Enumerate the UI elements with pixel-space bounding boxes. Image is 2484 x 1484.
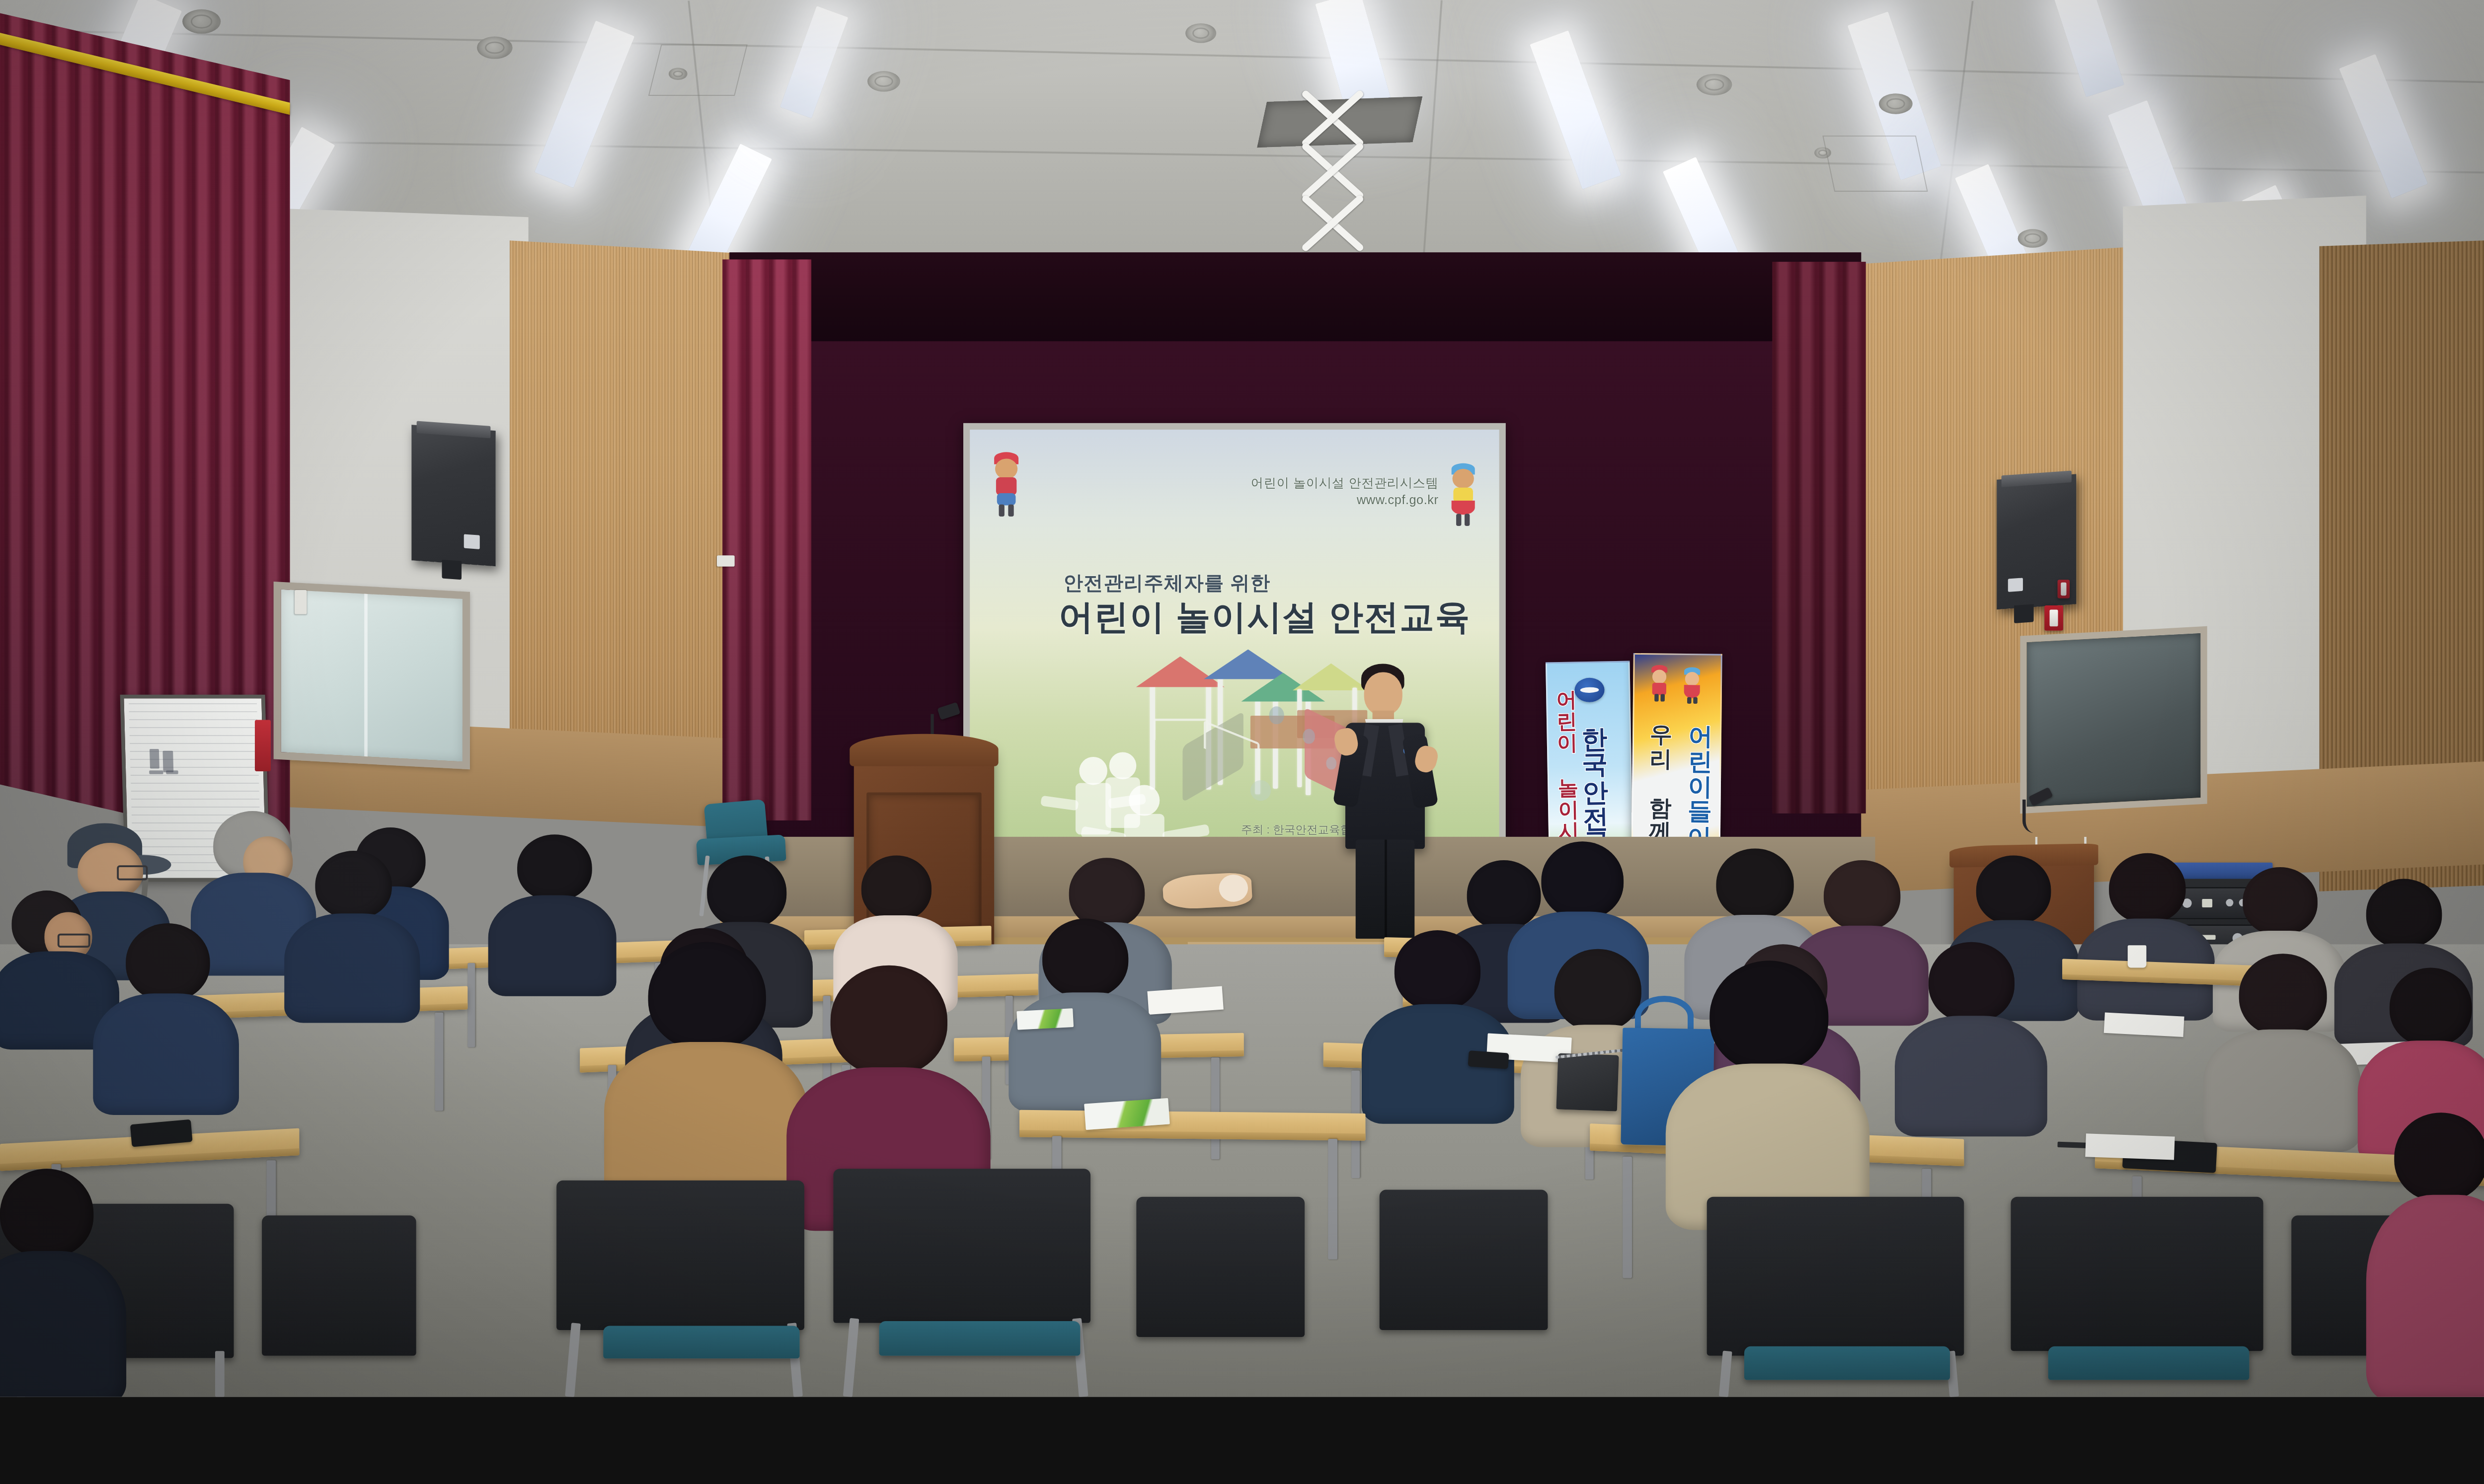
ceiling-diffuser	[2018, 229, 2048, 248]
chair-seat[interactable]	[1744, 1346, 1950, 1380]
handout-papers	[2085, 1133, 2174, 1160]
presenter-speaker	[1317, 664, 1452, 940]
chair[interactable]	[556, 1181, 804, 1330]
slide-child-front	[1110, 785, 1180, 842]
ceiling-diffuser	[1879, 93, 1913, 114]
audience-person	[1894, 942, 2048, 1134]
desk-row	[1019, 1110, 1366, 1141]
handout-papers	[2104, 1012, 2184, 1037]
ceiling-diffuser	[1697, 74, 1732, 95]
audience-person	[2376, 1113, 2484, 1397]
eyeglasses	[58, 934, 90, 948]
smartphone[interactable]	[1468, 1050, 1509, 1069]
black-handbag	[1556, 1053, 1619, 1111]
fire-alarm-indicator	[2058, 580, 2070, 598]
curtain-stage-right	[1772, 262, 1865, 814]
green-booklet	[1016, 1008, 1074, 1030]
eyeglasses	[117, 865, 148, 880]
chair[interactable]	[262, 1215, 416, 1355]
fire-extinguisher[interactable]	[255, 720, 271, 772]
audience-person	[2076, 853, 2216, 1019]
ceiling-diffuser	[182, 9, 221, 34]
audience-person	[1665, 961, 1870, 1227]
slide-system-url: 어린이 놀이시설 안전관리시스템 www.cpf.go.kr	[1242, 474, 1438, 509]
curtain-stage-left	[722, 259, 811, 820]
audience-person	[91, 923, 241, 1111]
wall-light-switch[interactable]	[717, 555, 735, 567]
wall-speaker-left	[411, 425, 495, 566]
chair-seat[interactable]	[879, 1321, 1081, 1356]
window-dark-right	[2020, 626, 2207, 814]
ev-logo-icon	[464, 534, 479, 549]
audience-person	[281, 851, 421, 1019]
chair[interactable]	[2011, 1197, 2263, 1351]
audience-person	[603, 942, 809, 1204]
chair[interactable]	[1380, 1190, 1548, 1330]
slide-title: 어린이 놀이시설 안전교육	[1059, 594, 1471, 641]
chair[interactable]	[1136, 1197, 1305, 1337]
lectern-mic-gooseneck	[2022, 800, 2034, 833]
banner-kid-girl-icon	[1679, 667, 1706, 704]
ev-logo-icon	[2008, 578, 2023, 592]
chair-seat[interactable]	[2048, 1346, 2250, 1380]
fire-alarm-strobe	[2044, 605, 2063, 631]
audience-person	[2202, 954, 2361, 1150]
banner-kid-boy-icon	[1646, 665, 1673, 702]
ceiling-diffuser	[477, 36, 513, 59]
chair[interactable]	[1707, 1197, 1964, 1356]
ceiling-access-panel	[1822, 136, 1928, 192]
auditorium-scene: 어린이 놀이시설 안전관리시스템 www.cpf.go.kr 안전관리주체자를 …	[0, 0, 2484, 1397]
ceiling-diffuser	[867, 71, 900, 91]
audience-person	[0, 1169, 126, 1397]
playground-roof-red	[1136, 657, 1225, 687]
paper-cup	[2128, 945, 2147, 967]
ceiling-access-panel	[648, 44, 748, 96]
mascot-boy-icon	[985, 452, 1028, 518]
chair[interactable]	[833, 1169, 1090, 1323]
ceiling-diffuser	[1185, 23, 1216, 43]
mascot-girl-icon	[1443, 463, 1483, 529]
chair-seat[interactable]	[603, 1326, 799, 1358]
wall-plate-left[interactable]	[295, 590, 307, 614]
stage-header-valance	[729, 252, 1861, 341]
audience-person	[486, 834, 618, 993]
playground-roof-blue	[1204, 649, 1293, 679]
audience-person	[1361, 930, 1515, 1122]
slide-subtitle: 안전관리주체자를 위한	[1063, 570, 1270, 596]
